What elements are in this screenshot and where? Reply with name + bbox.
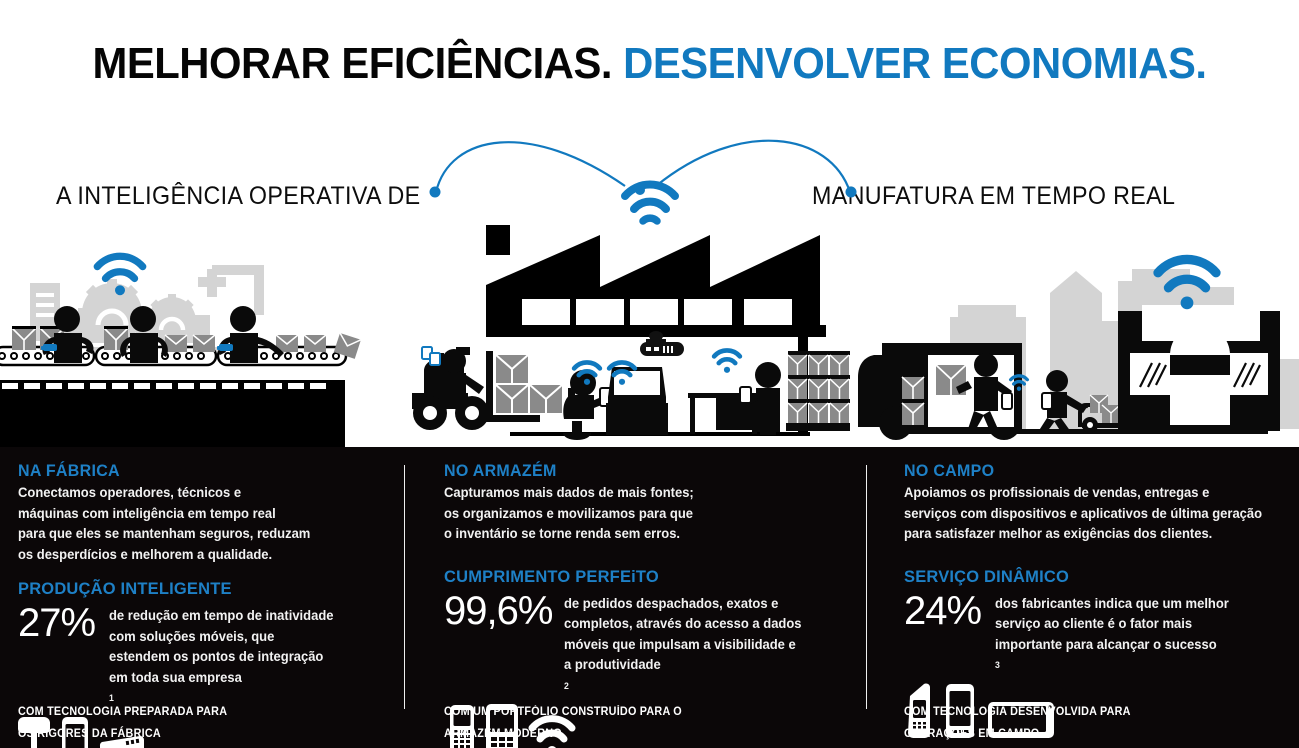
footer-line: COM TECNOLOGIA PREPARADA PARA	[18, 701, 227, 723]
body-line: serviços com dispositivos e aplicativos …	[904, 504, 1273, 525]
stats-panel: NA FÁBRICA Conectamos operadores, técnic…	[0, 447, 1299, 748]
column-field: NO CAMPO Apoiamos os profissionais de ve…	[904, 447, 1284, 748]
section-heading: NO CAMPO	[904, 447, 1273, 481]
column-divider-2	[866, 465, 867, 709]
column-divider-1	[404, 465, 405, 709]
scene-field-retail	[850, 225, 1299, 447]
body-line: máquinas com inteligência em tempo real	[18, 504, 377, 525]
footer-line: COM TECNOLOGIA DESENVOLVIDA PARA	[904, 701, 1131, 723]
body-line: o inventário se torne renda sem erros.	[444, 524, 832, 545]
footnote-marker: 2	[564, 681, 569, 691]
section-heading: NO ARMAZÉM	[444, 447, 832, 481]
stat-line: móveis que impulsam a visibilidade e	[564, 635, 802, 656]
subtitle-left: A INTELIGÊNCIA OPERATIVA DE	[56, 182, 421, 211]
stat-description: dos fabricantes indica que um melhor ser…	[995, 589, 1229, 680]
body-line: Apoiamos os profissionais de vendas, ent…	[904, 483, 1273, 504]
body-line: os desperdícios e melhorem a qualidade.	[18, 545, 377, 566]
stat-line: a produtividade2	[564, 655, 802, 700]
stat-line: dos fabricantes indica que um melhor	[995, 594, 1229, 615]
scene-factory-floor	[0, 225, 400, 447]
wifi-icon	[714, 350, 740, 372]
scene-warehouse	[400, 225, 850, 447]
stat-line: importante para alcançar o sucesso3	[995, 635, 1229, 680]
stat-line: de pedidos despachados, exatos e	[564, 594, 802, 615]
stat-heading: PRODUÇÃO INTELIGENTE	[18, 579, 377, 599]
infographic-canvas: MELHORAR EFICIÊNCIAS. DESENVOLVER ECONOM…	[0, 0, 1299, 748]
footer-line: COM UM PORTFÓLIO CONSTRUÍDO PARA O	[444, 701, 682, 723]
stat-description: de pedidos despachados, exatos e complet…	[564, 589, 802, 701]
section-body: Conectamos operadores, técnicos e máquin…	[18, 483, 377, 565]
footnote-marker: 3	[995, 660, 1000, 670]
wifi-icon	[617, 178, 683, 228]
desk-and-laptop	[606, 367, 668, 435]
column-footer: COM TECNOLOGIA DESENVOLVIDA PARA OPERAÇÕ…	[904, 701, 1131, 745]
footer-line: OPERAÇÕES EM CAMPO	[904, 723, 1131, 745]
section-body: Apoiamos os profissionais de vendas, ent…	[904, 483, 1273, 545]
stat-value: 24%	[904, 589, 981, 633]
handheld-device-icon	[740, 387, 751, 403]
stat-value: 99,6%	[444, 589, 552, 633]
headline-blue-part: DESENVOLVER ECONOMIAS.	[623, 39, 1206, 88]
column-footer: COM TECNOLOGIA PREPARADA PARA OS RIGORES…	[18, 701, 227, 745]
column-footer: COM UM PORTFÓLIO CONSTRUÍDO PARA O ARMAZ…	[444, 701, 682, 745]
column-warehouse: NO ARMAZÉM Capturamos mais dados de mais…	[444, 447, 844, 748]
stat-heading: SERVIÇO DINÂMICO	[904, 567, 1273, 587]
body-line: os organizamos e movilizamos para que	[444, 504, 832, 525]
body-line: para que eles se mantenham seguros, redu…	[18, 524, 377, 545]
stat-line: de redução em tempo de inatividade	[109, 606, 333, 627]
storefront	[1118, 305, 1280, 431]
warehouse-shelf	[786, 351, 850, 431]
stat-description: de redução em tempo de inatividade com s…	[109, 601, 333, 713]
pallet-stack-left	[496, 355, 562, 413]
stat-heading: CUMPRIMENTO PERFEiTO	[444, 567, 832, 587]
section-heading: NA FÁBRICA	[18, 447, 377, 481]
stat-line: serviço ao cliente é o fator mais	[995, 614, 1229, 635]
body-line: Capturamos mais dados de mais fontes;	[444, 483, 832, 504]
stat-line: estendem os pontos de integração	[109, 647, 333, 668]
stat-value: 27%	[18, 601, 95, 645]
page-title: MELHORAR EFICIÊNCIAS. DESENVOLVER ECONOM…	[32, 36, 1266, 92]
footer-line: OS RIGORES DA FÁBRICA	[18, 723, 227, 745]
stat-line: completos, através do acesso a dados	[564, 614, 802, 635]
footer-line: ARMAZÉM MODERNO	[444, 723, 682, 745]
section-body: Capturamos mais dados de mais fontes; os…	[444, 483, 832, 545]
headline-dark-part: MELHORAR EFICIÊNCIAS.	[92, 39, 612, 88]
stat-line: com soluções móveis, que	[109, 627, 333, 648]
connected-devices-icon	[422, 347, 440, 365]
body-line: para satisfazer melhor as exigências dos…	[904, 524, 1273, 545]
column-factory: NA FÁBRICA Conectamos operadores, técnic…	[18, 447, 388, 748]
body-line: Conectamos operadores, técnicos e	[18, 483, 377, 504]
mobile-device-icon	[1002, 393, 1012, 409]
